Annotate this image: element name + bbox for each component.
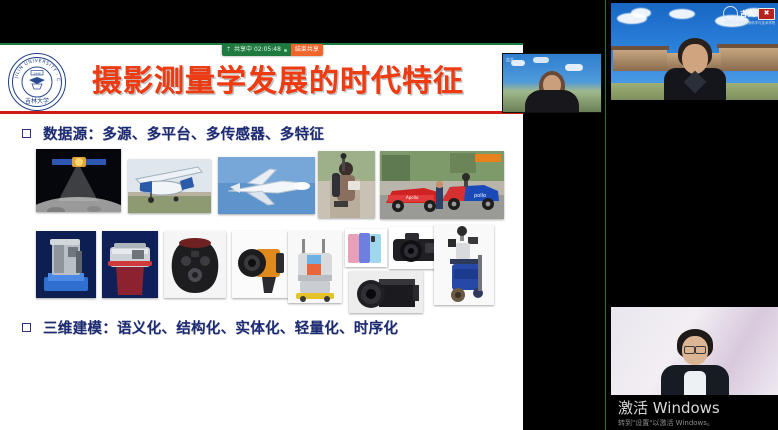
speaker-person bbox=[664, 38, 726, 100]
square-bullet-icon bbox=[22, 129, 31, 138]
pip-speaker-body bbox=[525, 90, 579, 112]
photo-satellite-lunar-orbiter bbox=[36, 149, 121, 212]
bullet-3d-modeling-text: 三维建模：语义化、结构化、实体化、轻量化、时序化 bbox=[43, 317, 398, 338]
participant-video-column: 吉大 ✖ 吉林大学地球探测科学与技术学院 激活 Windows 转到"设置"以激… bbox=[605, 0, 778, 430]
slide-title: 摄影测量学发展的时代特征 bbox=[78, 53, 478, 103]
shared-screen-region: JILIN UNIVERSITY · CHINA 1946 吉林大学 摄影测量学… bbox=[0, 0, 605, 430]
svg-text:Apollo: Apollo bbox=[406, 195, 419, 200]
photo-survey-biplane bbox=[128, 159, 211, 213]
photo-aerial-camera-mount bbox=[102, 231, 158, 298]
photo-apollo-autonomous-vehicles: Apollo pollo bbox=[380, 151, 504, 219]
title-divider bbox=[0, 111, 523, 114]
svg-text:pollo: pollo bbox=[474, 193, 486, 199]
meeting-screen-share-window: JILIN UNIVERSITY · CHINA 1946 吉林大学 摄影测量学… bbox=[0, 0, 778, 430]
photo-backpack-mobile-mapping bbox=[318, 151, 375, 218]
photo-smartphones bbox=[345, 229, 387, 267]
closed-badge-icon: ✖ bbox=[758, 8, 775, 20]
windows-activation-title: 激活 Windows bbox=[618, 400, 720, 417]
photo-aerial-camera-blue bbox=[36, 231, 96, 298]
video-tile-speaker[interactable]: 吉大 ✖ 吉林大学地球探测科学与技术学院 bbox=[606, 0, 778, 285]
windows-activation-subtitle: 转到"设置"以激活 Windows。 bbox=[618, 418, 720, 428]
jilin-university-seal-icon: JILIN UNIVERSITY · CHINA 1946 吉林大学 bbox=[8, 53, 66, 111]
photo-panoramic-camera bbox=[164, 231, 226, 298]
upload-icon: ⇡ bbox=[226, 47, 231, 53]
stop-share-button[interactable]: 结束共享 bbox=[291, 44, 323, 56]
square-bullet-icon bbox=[22, 323, 31, 332]
bullet-data-source-text: 数据源：多源、多平台、多传感器、多特征 bbox=[43, 123, 324, 144]
photo-fixed-wing-uav bbox=[218, 157, 315, 214]
share-status-group: ⇡ 共享中 02:05:48 bbox=[222, 44, 291, 56]
photo-industrial-camera bbox=[349, 271, 423, 313]
slide-title-text: 摄影测量学发展的时代特征 bbox=[92, 56, 464, 100]
participant-person bbox=[661, 329, 729, 395]
svg-text:吉林大学: 吉林大学 bbox=[25, 97, 49, 105]
video-tile-participant[interactable]: 激活 Windows 转到"设置"以激活 Windows。 bbox=[606, 285, 778, 430]
participant-video-frame bbox=[611, 307, 778, 395]
speaker-video-frame: 吉大 ✖ 吉林大学地球探测科学与技术学院 bbox=[611, 3, 778, 100]
photo-terrestrial-laser-scanner bbox=[288, 231, 342, 303]
screen-share-status-bar: ⇡ 共享中 02:05:48 结束共享 bbox=[222, 44, 323, 56]
pip-overlay-logo: 吉大 bbox=[506, 57, 514, 63]
speaker-overlay-logo: 吉大 ✖ 吉林大学地球探测科学与技术学院 bbox=[723, 6, 775, 21]
overlay-logo-text: 吉大 bbox=[740, 9, 756, 19]
record-dot-icon bbox=[284, 49, 287, 52]
picture-in-picture-speaker-video[interactable]: 吉大 bbox=[502, 53, 602, 113]
photo-mobile-mapping-trolley bbox=[434, 225, 494, 305]
svg-text:1946: 1946 bbox=[33, 71, 41, 75]
bullet-3d-modeling: 三维建模：语义化、结构化、实体化、轻量化、时序化 bbox=[22, 317, 398, 338]
bullet-data-source: 数据源：多源、多平台、多传感器、多特征 bbox=[22, 123, 324, 144]
stop-share-label: 结束共享 bbox=[295, 47, 319, 53]
overlay-logo-subtext: 吉林大学地球探测科学与技术学院 bbox=[724, 20, 775, 25]
photo-lidar-scanner-orange bbox=[232, 231, 290, 298]
windows-activation-watermark: 激活 Windows 转到"设置"以激活 Windows。 bbox=[618, 400, 720, 428]
university-seal-icon bbox=[723, 6, 738, 21]
presentation-slide: JILIN UNIVERSITY · CHINA 1946 吉林大学 摄影测量学… bbox=[0, 43, 523, 430]
share-status-text: 共享中 02:05:48 bbox=[234, 47, 281, 53]
